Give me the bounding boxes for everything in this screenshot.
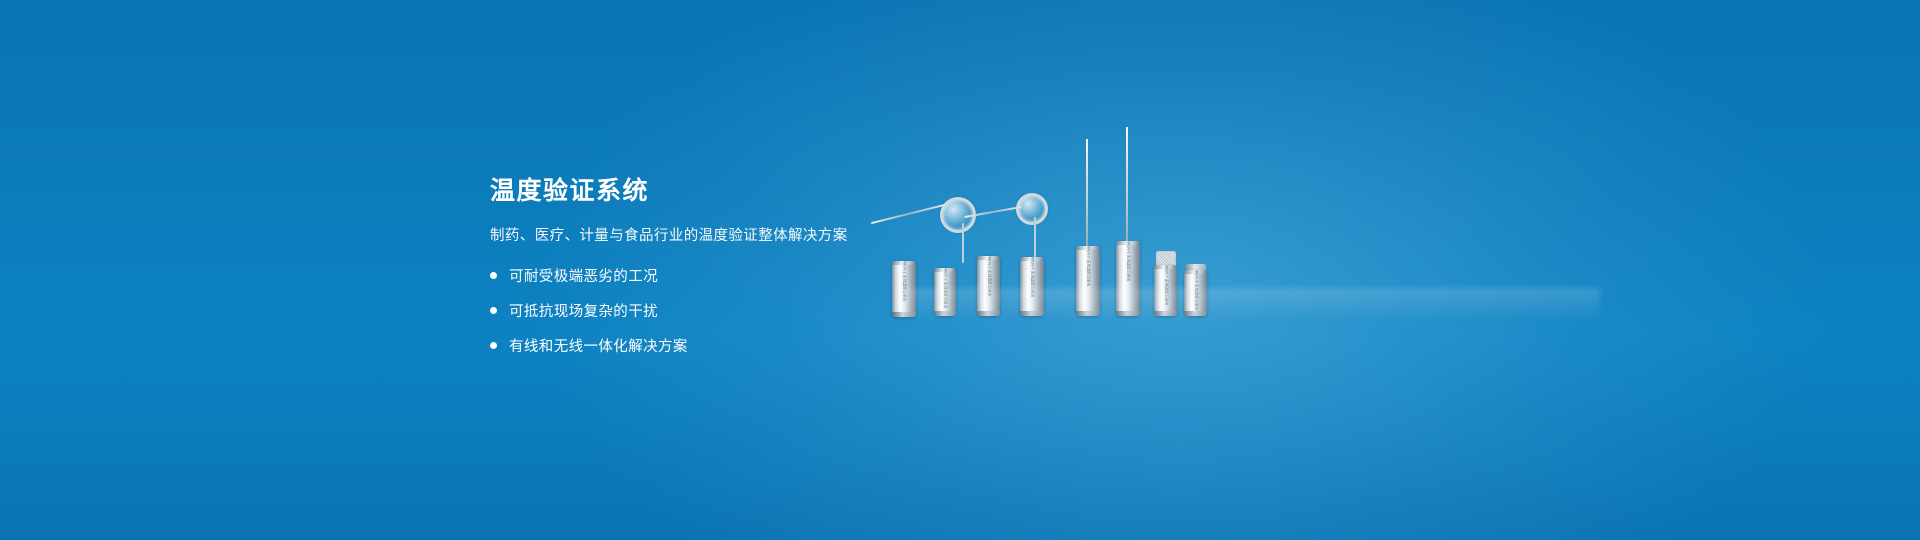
logger-label: WLN-7 无线温度记录仪 bbox=[1163, 266, 1168, 306]
probe-needle-icon bbox=[1126, 127, 1128, 255]
bullet-dot-icon bbox=[490, 342, 497, 349]
feature-label: 有线和无线一体化解决方案 bbox=[509, 335, 688, 356]
bullet-dot-icon bbox=[490, 272, 497, 279]
logger-label: WLN-8 无线温度记录仪 bbox=[1193, 271, 1198, 311]
probe-wire-icon bbox=[962, 223, 964, 263]
data-logger: WLN-4 无线温度记录仪 bbox=[1020, 257, 1044, 316]
data-logger: WLN-7 无线温度记录仪 bbox=[1154, 265, 1177, 316]
list-item: 有线和无线一体化解决方案 bbox=[490, 335, 1010, 356]
data-logger: WLN-2 无线温度记录仪 bbox=[934, 268, 956, 316]
probe-coil-icon bbox=[1016, 193, 1048, 225]
probe-wire-icon bbox=[871, 204, 945, 224]
logger-label: WLN-2 无线温度记录仪 bbox=[943, 269, 948, 309]
logger-label: WLN-3 无线温度记录仪 bbox=[986, 257, 991, 297]
logger-label: WLN-4 无线温度记录仪 bbox=[1030, 258, 1035, 298]
data-logger: WLN-6 无线温度记录仪 bbox=[1116, 241, 1140, 316]
logger-label: WLN-5 无线温度记录仪 bbox=[1086, 247, 1091, 287]
logger-label: WLN-6 无线温度记录仪 bbox=[1126, 242, 1131, 282]
data-logger: WLN-8 无线温度记录仪 bbox=[1184, 270, 1207, 316]
data-logger: WLN-1 无线温度记录仪 bbox=[892, 261, 916, 317]
probe-needle-icon bbox=[1086, 139, 1088, 259]
data-logger: WLN-3 无线温度记录仪 bbox=[977, 256, 1000, 316]
hero-banner: 温度验证系统 制药、医疗、计量与食品行业的温度验证整体解决方案 可耐受极端恶劣的… bbox=[0, 0, 1920, 540]
data-logger: WLN-5 无线温度记录仪 bbox=[1076, 246, 1100, 316]
feature-label: 可抵抗现场复杂的干扰 bbox=[509, 300, 658, 321]
product-photo: WLN-1 无线温度记录仪 WLN-2 无线温度记录仪 WLN-3 无线温度记录… bbox=[880, 125, 1660, 325]
feature-label: 可耐受极端恶劣的工况 bbox=[509, 265, 658, 286]
logger-label: WLN-1 无线温度记录仪 bbox=[902, 262, 907, 302]
bullet-dot-icon bbox=[490, 307, 497, 314]
